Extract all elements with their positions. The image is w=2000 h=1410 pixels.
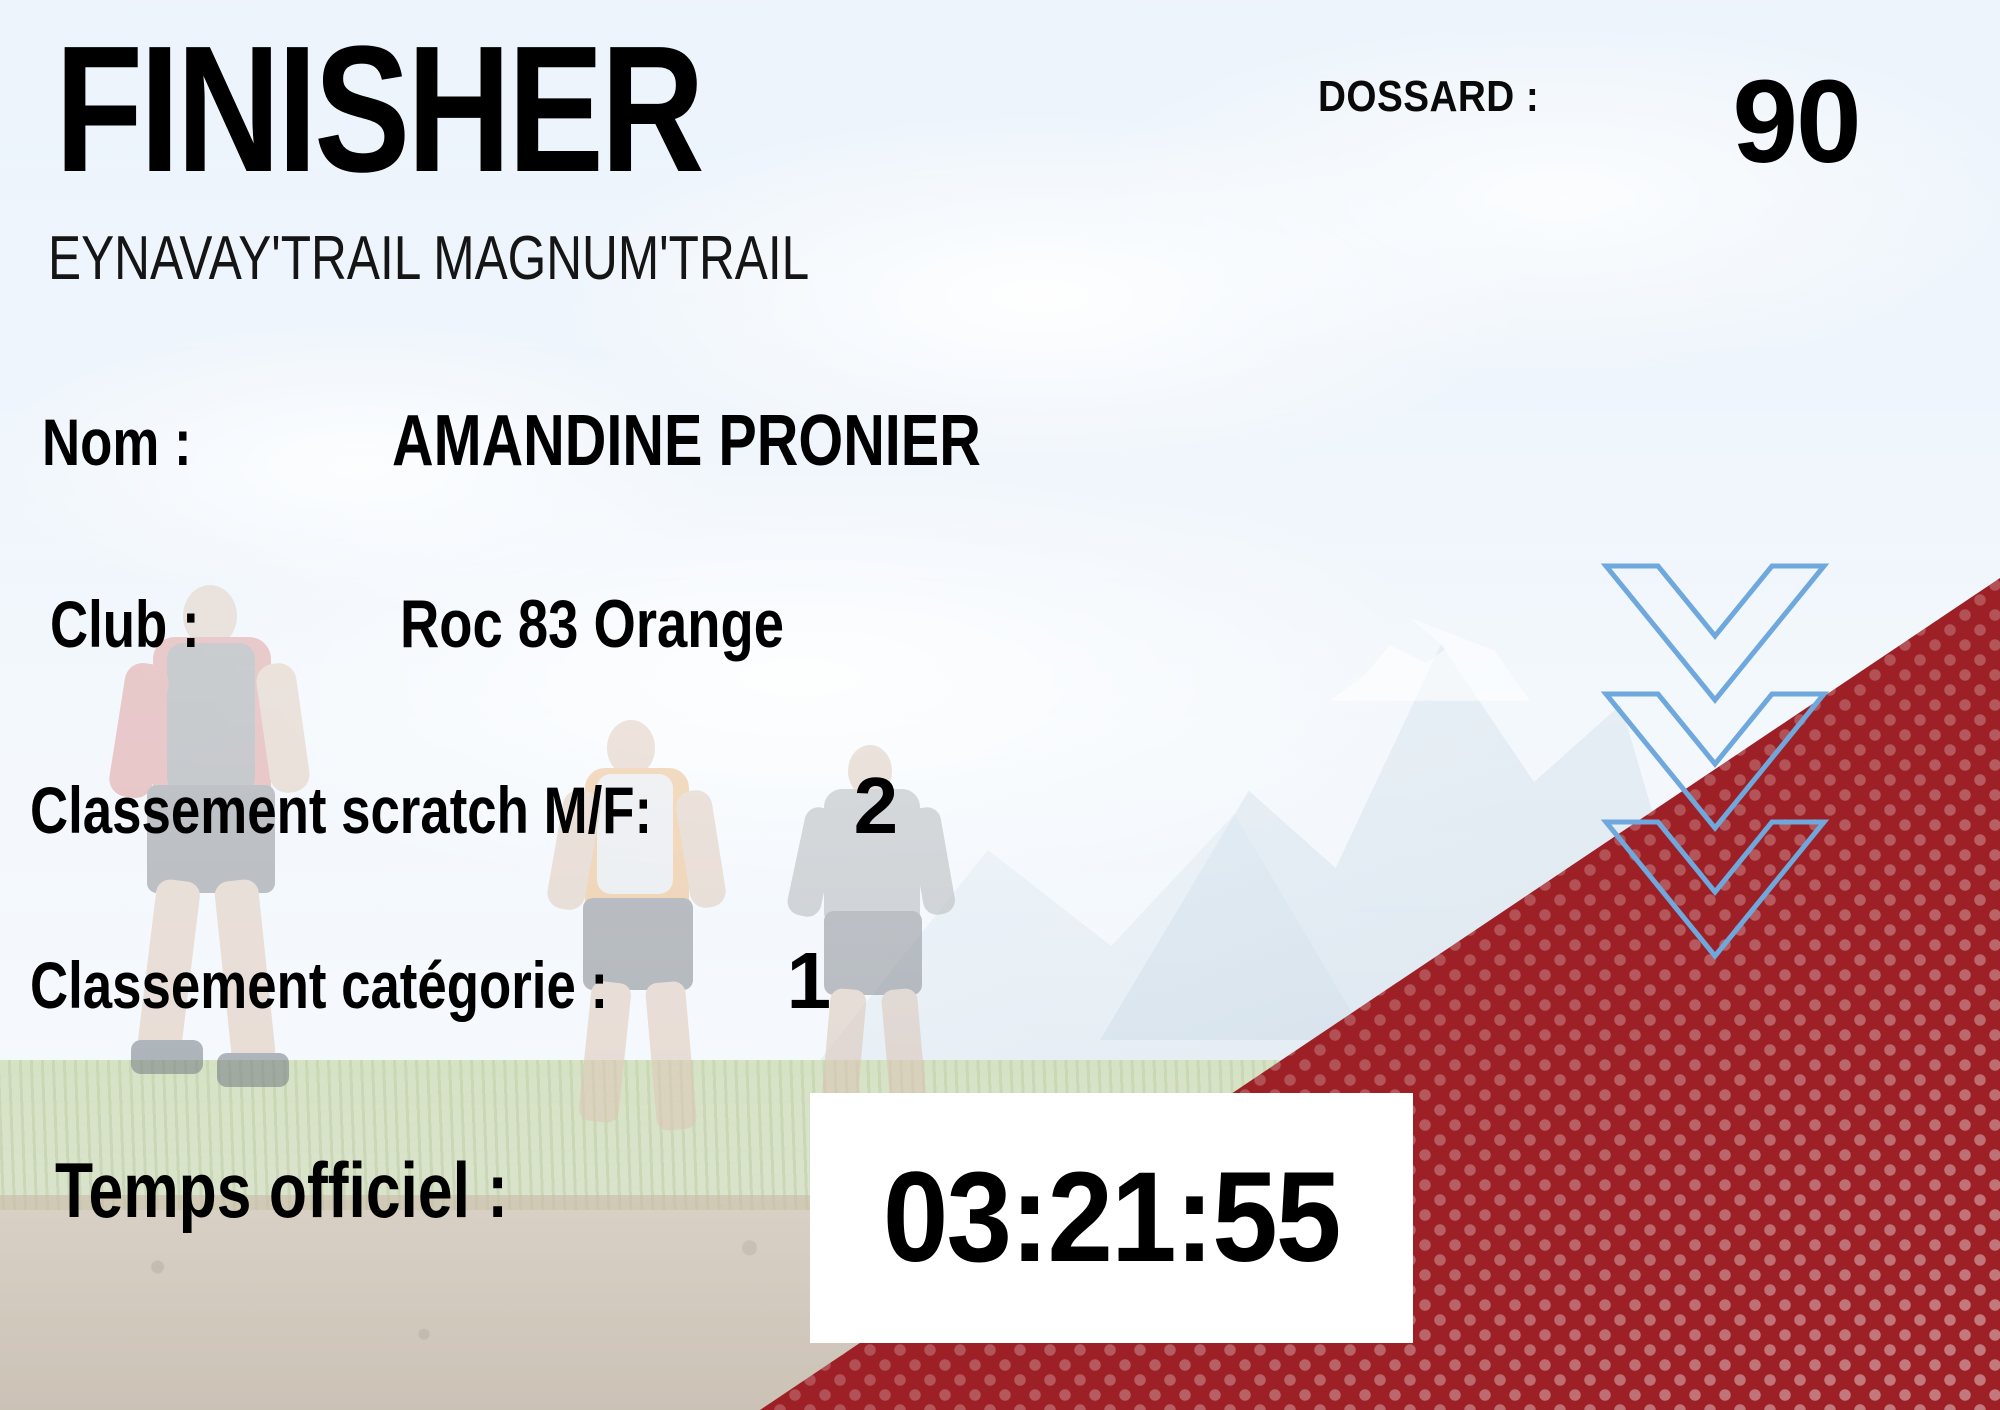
club-value: Roc 83 Orange	[400, 585, 784, 663]
nom-label: Nom :	[42, 404, 322, 480]
field-row-temps-officiel: Temps officiel :	[55, 1145, 621, 1236]
club-label: Club :	[50, 586, 330, 662]
classement-scratch-label: Classement scratch M/F:	[30, 772, 652, 848]
nom-value: AMANDINE PRONIER	[392, 400, 981, 482]
dossard-badge: 90	[1607, 30, 1985, 213]
classement-categorie-value: 1	[753, 935, 832, 1027]
field-row-club: Club :Roc 83 Orange	[50, 585, 880, 663]
finisher-certificate: FINISHER EYNAVAY'TRAIL MAGNUM'TRAIL DOSS…	[0, 0, 2000, 1410]
chevron-stack	[1600, 560, 1830, 940]
field-row-classement-scratch: Classement scratch M/F:2	[30, 760, 898, 852]
field-row-classement-categorie: Classement catégorie :1	[30, 935, 831, 1027]
temps-officiel-label: Temps officiel :	[55, 1145, 508, 1236]
dossard-number: 90	[1732, 63, 1859, 181]
dossard-label: DOSSARD :	[1318, 72, 1539, 122]
page-title: FINISHER	[55, 20, 701, 200]
classement-categorie-label: Classement catégorie :	[30, 947, 608, 1023]
temps-officiel-value: 03:21:55	[883, 1154, 1340, 1282]
event-subtitle: EYNAVAY'TRAIL MAGNUM'TRAIL	[48, 228, 809, 290]
temps-officiel-box: 03:21:55	[810, 1093, 1413, 1343]
classement-scratch-value: 2	[808, 760, 899, 852]
field-row-nom: Nom :AMANDINE PRONIER	[42, 400, 1128, 482]
chevron-down-icon	[1600, 816, 1830, 996]
